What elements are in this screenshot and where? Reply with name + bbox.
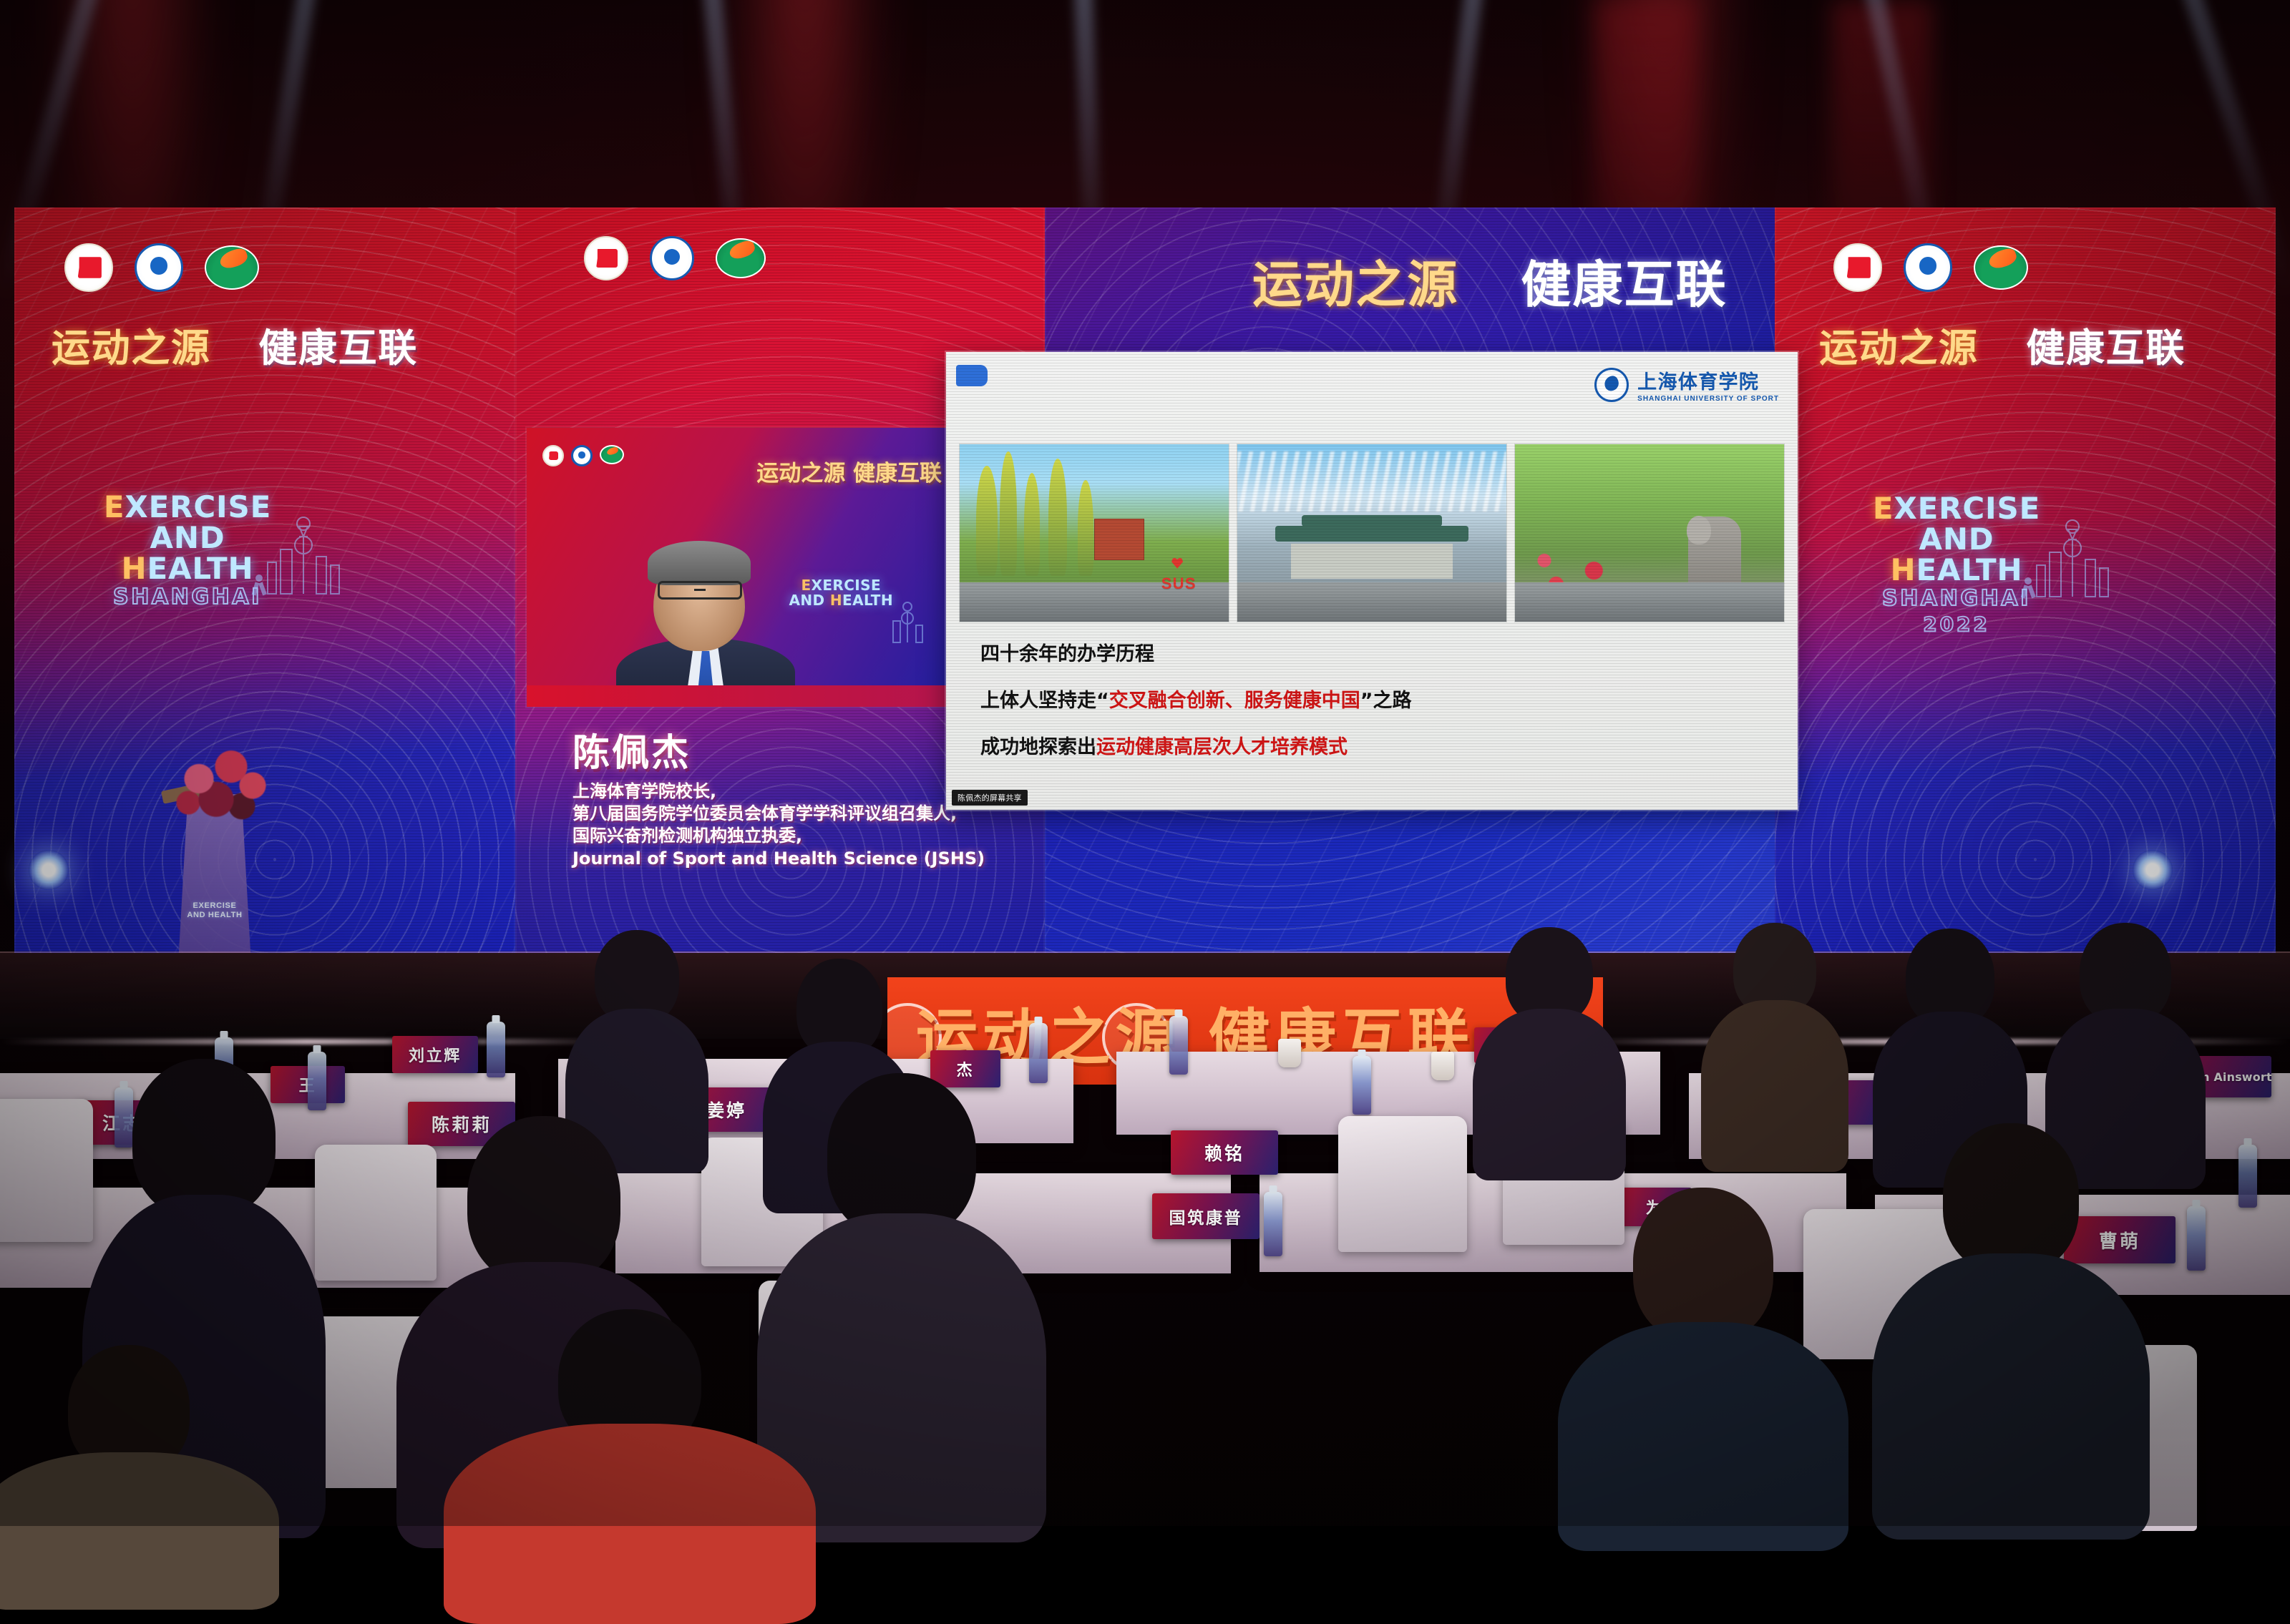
audience-chair [0, 1099, 93, 1242]
led-slogan-left: 运动之源 健康互联 [52, 316, 418, 373]
led-slogan-main: 运动之源 健康互联 [1252, 245, 1728, 317]
slide-accent-tab [956, 365, 988, 386]
bullet-text-plain: 上体人坚持走“ [980, 690, 1109, 712]
brand-name-cn: 上海体育学院 [1637, 366, 1779, 394]
bullet-text-plain: 四十余年的办学历程 [980, 643, 1154, 665]
event-name-line1: EXERCISE [187, 901, 242, 911]
cloud-texture [1237, 451, 1506, 512]
shanghai-skyline-icon [2019, 497, 2113, 604]
bullet-text-highlight: 运动健康高层次人才培养模式 [1096, 736, 1348, 758]
led-panel-left: 运动之源 健康互联 EXERCISE AND HEALTH SHANGHAI [14, 207, 515, 966]
audience-person-foreground [1875, 1123, 2147, 1524]
sponsor-logo-row [64, 243, 259, 292]
brand-name-en: SHANGHAI UNIVERSITY OF SPORT [1637, 395, 1779, 403]
person-head [1943, 1123, 2079, 1273]
event-name-line1: EXERCISE [789, 578, 894, 593]
audience-person [1703, 923, 1846, 1159]
slogan-part-b: 健康互联 [1521, 255, 1727, 314]
campus-photo-main-hall [1237, 444, 1507, 622]
chinese-athletics-association-logo [1833, 243, 1882, 292]
paper-cup [1278, 1039, 1301, 1067]
audience-chair [1338, 1116, 1467, 1252]
video-feed-event-lockup: EXERCISE AND HEALTH [789, 578, 894, 608]
slide-photo-strip: SUS [959, 444, 1785, 622]
person-body [1872, 1253, 2150, 1540]
chinese-athletics-association-logo [584, 236, 628, 280]
event-name-line2: AND HEALTH [789, 593, 894, 608]
water-bottle [1169, 1016, 1188, 1075]
sponsor-logo-row [584, 236, 766, 280]
water-bottle [2238, 1145, 2257, 1208]
audience-person-foreground [1560, 1188, 1846, 1531]
table-name-card: 国筑康普 [1152, 1193, 1259, 1239]
remote-speaker-video-feed: 运动之源 健康互联 EXERCISE AND HEALTH [527, 428, 960, 707]
audience-person-foreground [0, 1345, 279, 1531]
table-name-card: 赖铭 [1171, 1130, 1278, 1175]
person-head [467, 1116, 620, 1285]
tree-shape [1000, 451, 1017, 576]
slogan-part-b: 健康互联 [258, 326, 417, 371]
road-shape [1237, 582, 1506, 622]
remote-speaker-person [616, 538, 795, 707]
campus-photo-statue [1514, 444, 1785, 622]
person-head [132, 1059, 276, 1218]
paper-cup [1431, 1052, 1454, 1080]
speaker-hair [648, 541, 751, 585]
brand-text: 上海体育学院 SHANGHAI UNIVERSITY OF SPORT [1637, 366, 1779, 403]
biophysical-society-of-china-logo [135, 243, 183, 292]
eyeglasses-icon [658, 581, 742, 600]
chinese-athletics-association-logo [64, 243, 113, 292]
moving-head-light [29, 850, 69, 890]
shanghai-university-of-sport-logo [1974, 245, 2028, 290]
heart-icon [1171, 558, 1183, 569]
led-panel-right: 运动之源 健康互联 EXERCISE AND HEALTH SHANGHAI 2… [1775, 207, 2276, 966]
led-slogan-right: 运动之源 健康互联 [1819, 316, 2186, 373]
screen-share-indicator: 陈佩杰的屏幕共享 [952, 790, 1028, 806]
shanghai-university-of-sport-logo [205, 245, 259, 290]
road-shape [1515, 582, 1784, 622]
shanghai-skyline-icon [250, 494, 343, 601]
flower-arrangement [169, 743, 276, 828]
roof-shape [1302, 515, 1442, 527]
slogan-part-b: 健康互联 [2026, 326, 2185, 371]
person-body [1473, 1009, 1626, 1180]
tree-shape [976, 466, 998, 576]
slogan-part-a: 运动之源 [1819, 326, 1978, 371]
bullet-text-highlight: 交叉融合创新、服务健康中国 [1109, 690, 1360, 712]
person-body [444, 1424, 816, 1624]
stage-floor-light [0, 1039, 615, 1045]
slide-bullet: 上体人坚持走“交叉融合创新、服务健康中国”之路 [980, 685, 1769, 713]
year-label: 2022 [1849, 615, 2064, 635]
biophysical-society-of-china-logo [1904, 243, 1952, 292]
speaker-title-line: 国际兴奋剂检测机构独立执委, [572, 825, 1030, 847]
sus-photo-caption: SUS [1161, 574, 1197, 593]
video-feed-logo-row [542, 445, 624, 466]
biophysical-society-of-china-logo [650, 236, 694, 280]
statue-head [1687, 516, 1711, 544]
water-bottle [487, 1022, 505, 1077]
chinese-athletics-association-logo [542, 445, 564, 466]
shanghai-university-of-sport-logo [1594, 368, 1629, 402]
sponsor-logo-row [1833, 243, 2028, 292]
audience-person-foreground [444, 1309, 816, 1552]
video-feed-slogan: 运动之源 健康互联 [756, 455, 942, 487]
water-bottle [1264, 1192, 1282, 1256]
slide-bullet: 四十余年的办学历程 [980, 638, 1769, 666]
shanghai-university-of-sport-logo [716, 238, 766, 278]
hall-facade [1291, 544, 1453, 579]
roof-shape [1275, 526, 1469, 542]
audience-person [1474, 927, 1624, 1163]
slogan-part-a: 运动之源 [1252, 255, 1458, 314]
podium-event-lockup: EXERCISE AND HEALTH [187, 901, 242, 919]
slide-university-brand: 上海体育学院 SHANGHAI UNIVERSITY OF SPORT [1594, 366, 1779, 403]
speaker-title-line: Journal of Sport and Health Science (JSH… [572, 848, 1030, 870]
person-head [1633, 1188, 1773, 1342]
bullet-text-plain: 成功地探索出 [980, 736, 1096, 758]
biophysical-society-of-china-logo [571, 445, 593, 466]
slogan-part-a: 运动之源 [52, 326, 210, 371]
water-bottle [2187, 1206, 2206, 1271]
campus-photo-autumn: SUS [959, 444, 1229, 622]
slide-bullet: 成功地探索出运动健康高层次人才培养模式 [980, 731, 1769, 759]
tree-shape [1078, 480, 1093, 576]
tree-shape [1024, 473, 1040, 576]
video-feed-bottom-bar [527, 685, 960, 707]
person-body [1701, 1000, 1848, 1172]
moving-head-light [2133, 850, 2173, 890]
tree-shape [1048, 459, 1067, 576]
bullet-text-plain-after: ”之路 [1360, 690, 1412, 712]
person-body [1558, 1322, 1848, 1551]
shanghai-university-of-sport-logo [600, 445, 624, 464]
slide-bullet-list: 四十余年的办学历程 上体人坚持走“交叉融合创新、服务健康中国”之路 成功地探索出… [980, 638, 1769, 778]
building-shape [1094, 519, 1144, 560]
table-name-card: 刘立辉 [392, 1036, 478, 1073]
event-name-line2: AND HEALTH [187, 911, 242, 920]
skyline-icon [879, 591, 929, 645]
person-body [0, 1452, 279, 1610]
water-bottle [1353, 1056, 1371, 1115]
shared-presentation-slide: 上海体育学院 SHANGHAI UNIVERSITY OF SPORT SUS [946, 352, 1798, 810]
